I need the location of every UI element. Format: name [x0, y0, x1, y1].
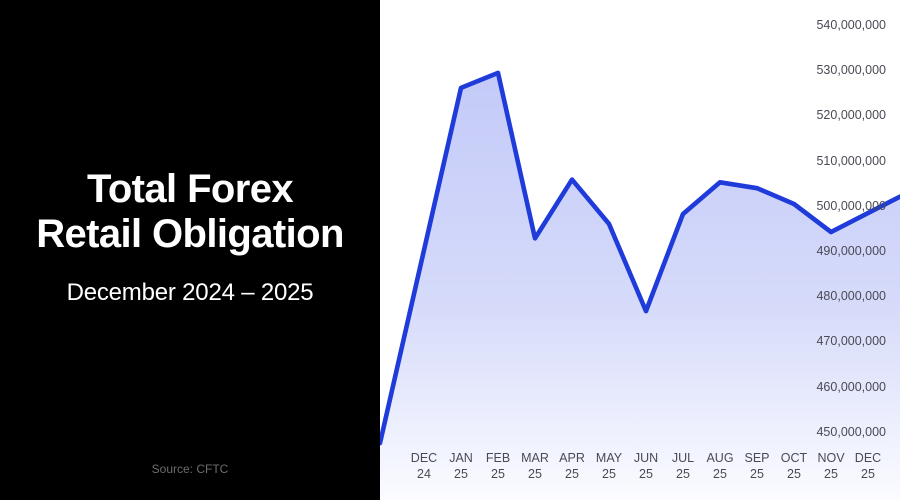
chart-page: Total Forex Retail Obligation December 2…	[0, 0, 900, 500]
y-tick-label: 490,000,000	[816, 244, 886, 258]
x-tick-label: DEC24	[411, 450, 437, 482]
x-tick-month: MAR	[521, 450, 549, 466]
x-tick-label: JUL25	[672, 450, 694, 482]
x-tick-month: AUG	[706, 450, 733, 466]
x-tick-month: NOV	[817, 450, 844, 466]
x-tick-year: 24	[411, 466, 437, 482]
chart-subtitle: December 2024 – 2025	[36, 279, 344, 307]
x-tick-label: MAR25	[521, 450, 549, 482]
page-title: Total Forex Retail Obligation December 2…	[36, 167, 344, 307]
x-tick-label: JUN25	[634, 450, 658, 482]
y-tick-label: 480,000,000	[816, 289, 886, 303]
x-tick-month: MAY	[596, 450, 622, 466]
x-tick-label: FEB25	[486, 450, 510, 482]
x-tick-month: JAN	[449, 450, 473, 466]
x-tick-year: 25	[634, 466, 658, 482]
x-tick-year: 25	[855, 466, 881, 482]
x-tick-month: APR	[559, 450, 585, 466]
x-tick-label: DEC25	[855, 450, 881, 482]
title-panel: Total Forex Retail Obligation December 2…	[0, 0, 380, 500]
x-tick-label: SEP25	[744, 450, 769, 482]
x-tick-label: NOV25	[817, 450, 844, 482]
title-line-1: Total Forex	[36, 167, 344, 212]
x-tick-month: OCT	[781, 450, 807, 466]
x-tick-label: MAY25	[596, 450, 622, 482]
title-line-2: Retail Obligation	[36, 212, 344, 257]
x-tick-year: 25	[521, 466, 549, 482]
y-tick-label: 450,000,000	[816, 425, 886, 439]
x-tick-year: 25	[817, 466, 844, 482]
x-tick-year: 25	[706, 466, 733, 482]
y-tick-label: 540,000,000	[816, 18, 886, 32]
y-tick-label: 520,000,000	[816, 108, 886, 122]
x-tick-month: DEC	[855, 450, 881, 466]
y-tick-label: 470,000,000	[816, 334, 886, 348]
x-tick-year: 25	[559, 466, 585, 482]
x-tick-year: 25	[596, 466, 622, 482]
x-tick-year: 25	[744, 466, 769, 482]
x-tick-month: JUL	[672, 450, 694, 466]
x-tick-year: 25	[781, 466, 807, 482]
y-tick-label: 510,000,000	[816, 154, 886, 168]
x-tick-label: JAN25	[449, 450, 473, 482]
y-tick-label: 500,000,000	[816, 199, 886, 213]
x-tick-month: DEC	[411, 450, 437, 466]
y-tick-label: 460,000,000	[816, 380, 886, 394]
y-tick-label: 530,000,000	[816, 63, 886, 77]
x-tick-year: 25	[486, 466, 510, 482]
source-attribution: Source: CFTC	[0, 462, 380, 476]
x-tick-label: AUG25	[706, 450, 733, 482]
x-tick-year: 25	[449, 466, 473, 482]
x-tick-month: FEB	[486, 450, 510, 466]
x-tick-month: JUN	[634, 450, 658, 466]
chart-panel: 540,000,000530,000,000520,000,000510,000…	[380, 0, 900, 500]
x-tick-year: 25	[672, 466, 694, 482]
x-tick-month: SEP	[744, 450, 769, 466]
x-tick-label: OCT25	[781, 450, 807, 482]
x-tick-label: APR25	[559, 450, 585, 482]
